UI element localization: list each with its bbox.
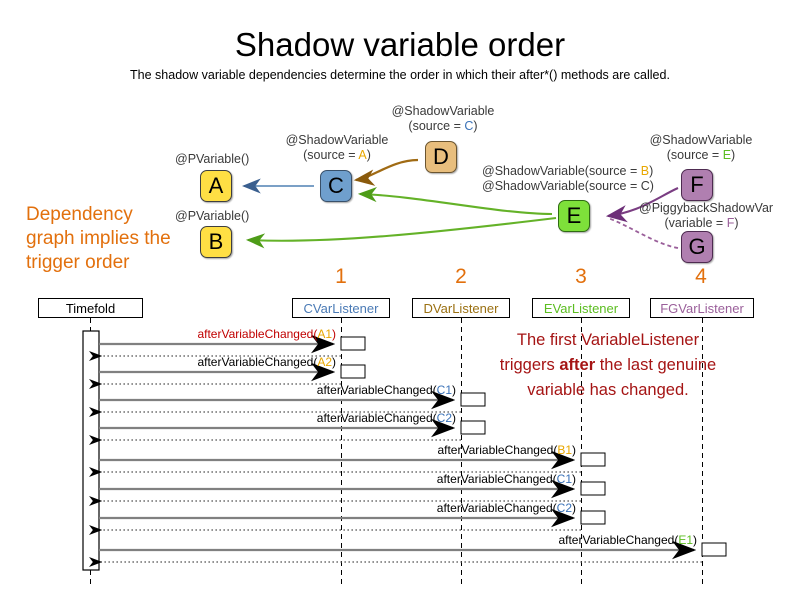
node-E-annotation-line2: @ShadowVariable(source = C)	[482, 179, 654, 193]
node-D-annotation-line1: @ShadowVariable	[392, 104, 495, 118]
message-label-1: afterVariableChanged(A1)	[197, 327, 336, 341]
lifeline-header-fgvarlistener[interactable]: FGVarListener	[650, 298, 754, 318]
trigger-order-note-line1: The first VariableListener	[432, 328, 784, 353]
lifeline-header-cvarlistener[interactable]: CVarListener	[292, 298, 390, 318]
message-1-arg: A1	[317, 327, 332, 341]
node-B-annotation: @PVariable()	[175, 209, 249, 224]
node-G-annotation-line1: @PiggybackShadowVar	[639, 201, 773, 215]
node-C-annotation-line1: @ShadowVariable	[286, 133, 389, 147]
message-8-method: afterVariableChanged	[558, 533, 674, 547]
node-F-annotation: @ShadowVariable (source = E)	[641, 133, 761, 163]
message-6-method: afterVariableChanged	[437, 472, 553, 486]
lifeline-header-timefold[interactable]: Timefold	[38, 298, 143, 318]
message-5-arg: B1	[557, 443, 572, 457]
node-C-annotation-line2-post: )	[367, 148, 371, 162]
message-8-arg: E1	[678, 533, 693, 547]
node-F-annotation-line2-pre: (source =	[667, 148, 723, 162]
message-3-method: afterVariableChanged	[317, 383, 433, 397]
node-D-annotation-line2-post: )	[473, 119, 477, 133]
lifeline-order-2: 2	[401, 265, 521, 289]
graph-node-G[interactable]: G	[681, 231, 713, 263]
message-label-6: afterVariableChanged(C1)	[437, 472, 576, 486]
graph-node-B[interactable]: B	[200, 226, 232, 258]
node-G-annotation-line2-pre: (variable =	[665, 216, 727, 230]
node-E-annotation-line1-post: )	[649, 164, 653, 178]
message-label-2: afterVariableChanged(A2)	[197, 355, 336, 369]
message-label-8: afterVariableChanged(E1)	[558, 533, 697, 547]
trigger-order-note: The first VariableListener triggers afte…	[432, 328, 784, 403]
message-2-method: afterVariableChanged	[197, 355, 313, 369]
message-label-4: afterVariableChanged(C2)	[317, 411, 456, 425]
page-title: Shadow variable order	[0, 26, 800, 64]
dependency-graph-note: Dependency graph implies the trigger ord…	[26, 203, 186, 275]
message-5-method: afterVariableChanged	[437, 443, 553, 457]
node-C-annotation-line2-pre: (source =	[303, 148, 358, 162]
node-G-annotation: @PiggybackShadowVar (variable = F)	[639, 201, 764, 231]
trigger-order-note-emphasis: after	[559, 356, 595, 374]
message-label-5: afterVariableChanged(B1)	[437, 443, 576, 457]
trigger-order-note-line2-post: the last genuine	[595, 356, 716, 374]
lifeline-order-1: 1	[281, 265, 401, 289]
message-7-arg: C2	[557, 501, 572, 515]
message-2-arg: A2	[317, 355, 332, 369]
message-6-arg: C1	[557, 472, 572, 486]
diagram-canvas: Shadow variable order The shadow variabl…	[0, 0, 800, 600]
message-1-method: afterVariableChanged	[197, 327, 313, 341]
node-A-annotation: @PVariable()	[175, 152, 249, 167]
graph-node-E[interactable]: E	[558, 200, 590, 232]
lifeline-order-3: 3	[521, 265, 641, 289]
node-F-annotation-line1: @ShadowVariable	[650, 133, 753, 147]
lifeline-header-dvarlistener[interactable]: DVarListener	[412, 298, 510, 318]
node-C-annotation: @ShadowVariable (source = A)	[282, 133, 392, 163]
lifeline-header-evarlistener[interactable]: EVarListener	[532, 298, 630, 318]
node-E-annotation: @ShadowVariable(source = B) @ShadowVaria…	[482, 164, 654, 194]
trigger-order-note-line3: variable has changed.	[432, 378, 784, 403]
node-D-annotation: @ShadowVariable (source = C)	[388, 104, 498, 134]
graph-node-A[interactable]: A	[200, 170, 232, 202]
node-F-source-var: E	[723, 148, 731, 162]
node-D-annotation-line2-pre: (source =	[408, 119, 464, 133]
message-4-arg: C2	[437, 411, 452, 425]
node-E-annotation-line1-pre: @ShadowVariable(source =	[482, 164, 641, 178]
trigger-order-note-line2-pre: triggers	[500, 356, 560, 374]
graph-node-F[interactable]: F	[681, 169, 713, 201]
graph-node-C[interactable]: C	[320, 170, 352, 202]
message-7-method: afterVariableChanged	[437, 501, 553, 515]
message-4-method: afterVariableChanged	[317, 411, 433, 425]
page-subtitle: The shadow variable dependencies determi…	[0, 68, 800, 82]
node-F-annotation-line2-post: )	[731, 148, 735, 162]
node-G-annotation-line2-post: )	[734, 216, 738, 230]
node-C-source-var: A	[358, 148, 366, 162]
lifeline-order-4: 4	[641, 265, 761, 289]
node-E-source-var: B	[641, 164, 649, 178]
graph-node-D[interactable]: D	[425, 141, 457, 173]
trigger-order-note-line2: triggers after the last genuine	[432, 353, 784, 378]
message-label-7: afterVariableChanged(C2)	[437, 501, 576, 515]
